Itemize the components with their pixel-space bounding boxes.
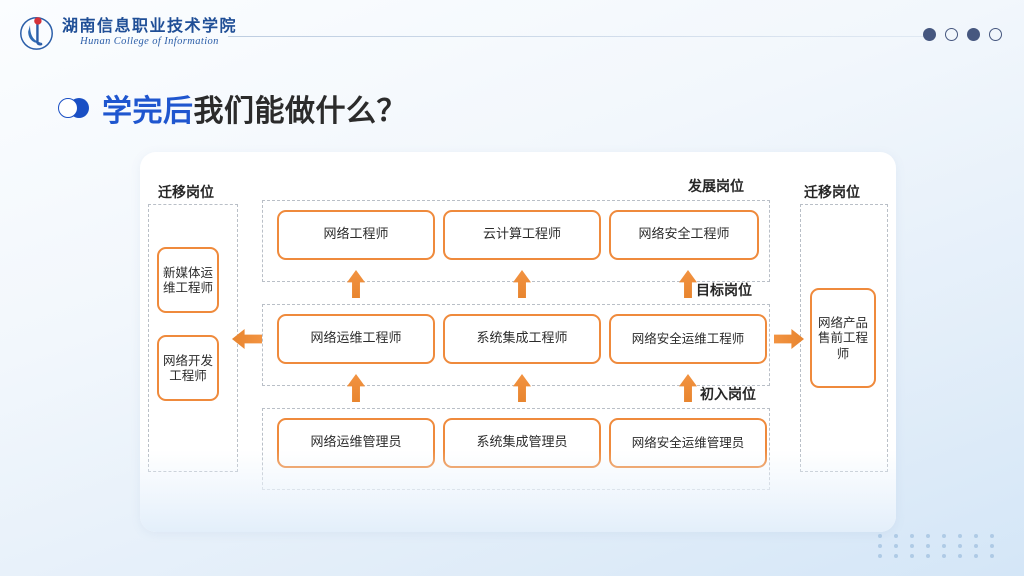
label-development: 发展岗位	[688, 176, 744, 196]
logo-emblem-icon	[18, 14, 55, 51]
logo-chinese-name: 湖南信息职业技术学院	[62, 18, 237, 34]
header-dot-2	[945, 28, 958, 41]
job-box-development-2[interactable]: 网络安全工程师	[609, 210, 759, 260]
label-target: 目标岗位	[696, 280, 752, 300]
job-box-migration-left-1[interactable]: 网络开发工程师	[157, 335, 219, 401]
career-path-diagram-card: 迁移岗位 发展岗位 目标岗位 初入岗位 迁移岗位 网络工程师 云计算工程师 网络…	[140, 152, 896, 532]
page-title: 学完后我们能做什么？	[58, 86, 407, 130]
header-divider-line	[228, 36, 928, 37]
job-box-target-1[interactable]: 系统集成工程师	[443, 314, 601, 364]
label-migration-right: 迁移岗位	[804, 182, 860, 202]
header-dot-4	[989, 28, 1002, 41]
page-title-rest: 我们能做什么？	[194, 94, 408, 129]
school-logo: 湖南信息职业技术学院 Hunan College of Information	[18, 14, 237, 51]
logo-wordmark: 湖南信息职业技术学院 Hunan College of Information	[62, 18, 237, 48]
header-dot-3	[967, 28, 980, 41]
job-box-migration-right-0[interactable]: 网络产品售前工程师	[810, 288, 876, 388]
job-box-development-1[interactable]: 云计算工程师	[443, 210, 601, 260]
label-migration-left: 迁移岗位	[158, 182, 214, 202]
job-box-entry-0[interactable]: 网络运维管理员	[277, 418, 435, 468]
slide-header: 湖南信息职业技术学院 Hunan College of Information	[0, 0, 1024, 58]
job-box-entry-2[interactable]: 网络安全运维管理员	[609, 418, 767, 468]
job-box-entry-1[interactable]: 系统集成管理员	[443, 418, 601, 468]
job-box-target-0[interactable]: 网络运维工程师	[277, 314, 435, 364]
header-dot-indicators	[923, 28, 1002, 41]
job-box-migration-left-0[interactable]: 新媒体运维工程师	[157, 247, 219, 313]
title-bullet-icon	[58, 98, 89, 118]
page-title-text: 学完后我们能做什么？	[102, 86, 407, 130]
job-box-development-0[interactable]: 网络工程师	[277, 210, 435, 260]
page-title-highlight: 学完后	[102, 94, 194, 129]
decorative-dot-grid	[878, 534, 1000, 558]
logo-english-name: Hunan College of Information	[62, 37, 237, 48]
label-entry: 初入岗位	[700, 384, 756, 404]
job-box-target-2[interactable]: 网络安全运维工程师	[609, 314, 767, 364]
header-dot-1	[923, 28, 936, 41]
